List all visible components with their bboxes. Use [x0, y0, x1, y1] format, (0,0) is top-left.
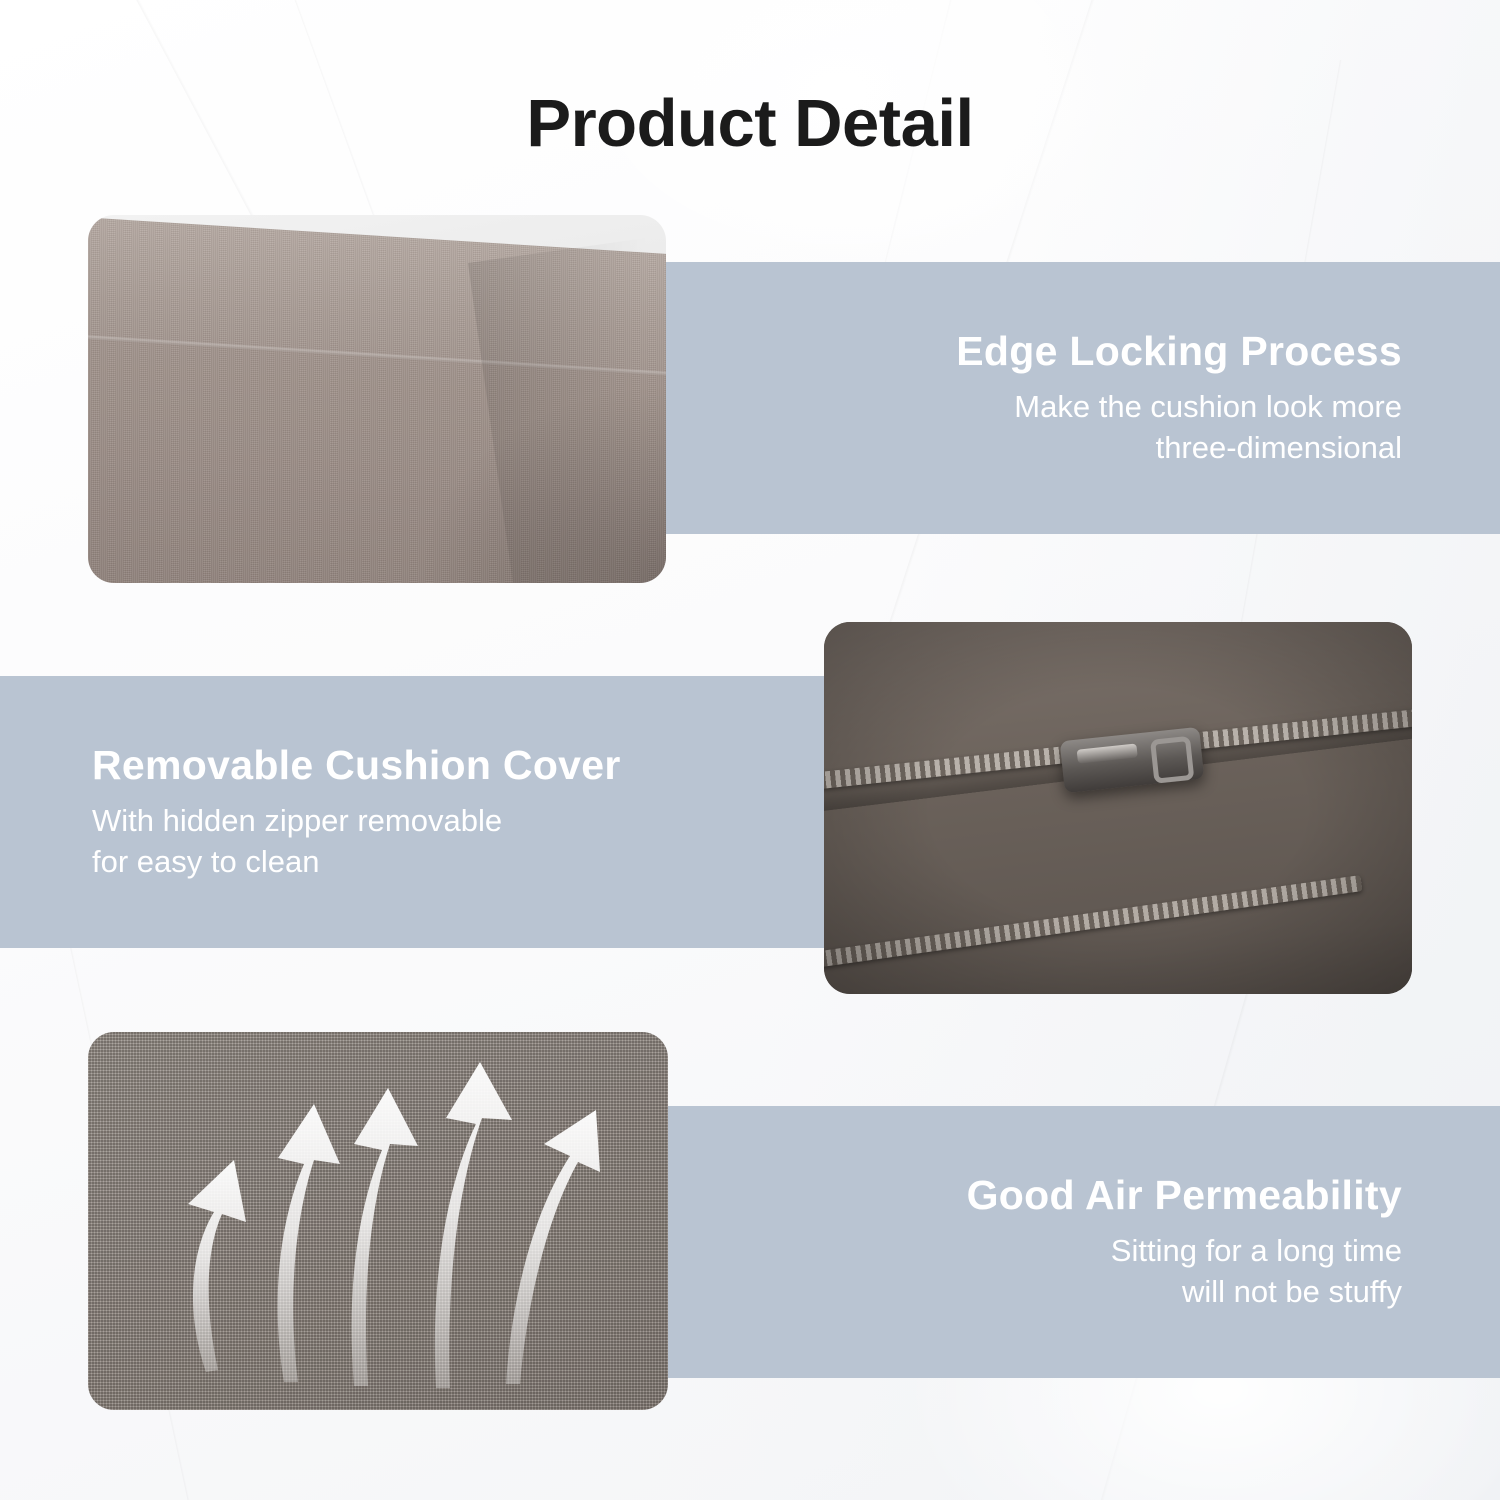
section-banner-edge-locking: Edge Locking Process Make the cushion lo…: [664, 262, 1500, 534]
airflow-arrows-photo: [88, 1032, 668, 1410]
section-heading-edge-locking: Edge Locking Process: [956, 328, 1402, 375]
subtitle-line-2: for easy to clean: [92, 842, 502, 883]
corner-drop-shadow: [416, 383, 666, 583]
section-subtitle-edge-locking: Make the cushion look more three-dimensi…: [1014, 387, 1402, 469]
product-detail-page: Product Detail Edge Locking Process Make…: [0, 0, 1500, 1500]
section-banner-removable-cover: Removable Cushion Cover With hidden zipp…: [0, 676, 830, 948]
photo-vignette: [824, 622, 1412, 994]
subtitle-line-2: three-dimensional: [1014, 428, 1402, 469]
hidden-zipper-photo: [824, 622, 1412, 994]
airflow-arrows-icon: [88, 1032, 668, 1410]
section-banner-air-permeability: Good Air Permeability Sitting for a long…: [664, 1106, 1500, 1378]
page-title: Product Detail: [0, 85, 1500, 162]
section-subtitle-removable-cover: With hidden zipper removable for easy to…: [92, 801, 502, 883]
cushion-corner-photo: [88, 215, 666, 583]
section-subtitle-air-permeability: Sitting for a long time will not be stuf…: [1111, 1231, 1402, 1313]
subtitle-line-1: Sitting for a long time: [1111, 1231, 1402, 1272]
section-heading-air-permeability: Good Air Permeability: [967, 1172, 1402, 1219]
section-heading-removable-cover: Removable Cushion Cover: [92, 742, 621, 789]
subtitle-line-2: will not be stuffy: [1111, 1272, 1402, 1313]
subtitle-line-1: Make the cushion look more: [1014, 387, 1402, 428]
subtitle-line-1: With hidden zipper removable: [92, 801, 502, 842]
